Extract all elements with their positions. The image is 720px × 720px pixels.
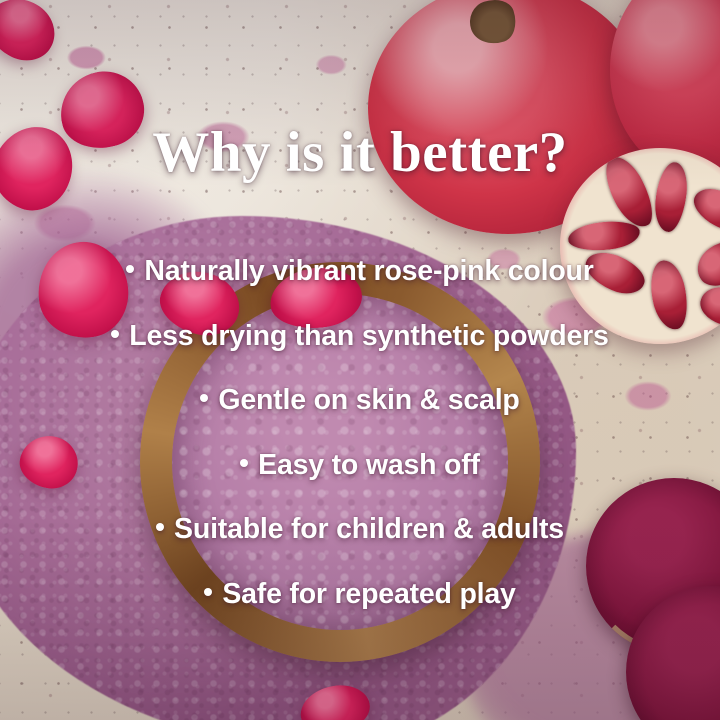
benefit-label: Less drying than synthetic powders — [129, 322, 608, 351]
benefit-label: Safe for repeated play — [222, 580, 515, 609]
bullet-dot-icon — [204, 588, 212, 596]
poster-content: Why is it better? Naturally vibrant rose… — [0, 0, 720, 720]
bullet-dot-icon — [126, 265, 134, 273]
benefit-label: Easy to wash off — [258, 451, 480, 480]
benefits-list: Naturally vibrant rose-pink colour Less … — [0, 257, 720, 608]
list-item: Less drying than synthetic powders — [111, 322, 608, 351]
bullet-dot-icon — [240, 459, 248, 467]
bullet-dot-icon — [156, 523, 164, 531]
benefit-label: Naturally vibrant rose-pink colour — [144, 257, 593, 286]
product-benefits-poster: Why is it better? Naturally vibrant rose… — [0, 0, 720, 720]
page-title: Why is it better? — [152, 124, 567, 181]
benefit-label: Suitable for children & adults — [174, 515, 564, 544]
list-item: Easy to wash off — [240, 451, 480, 480]
list-item: Safe for repeated play — [204, 580, 515, 609]
benefit-label: Gentle on skin & scalp — [218, 386, 519, 415]
list-item: Naturally vibrant rose-pink colour — [126, 257, 593, 286]
list-item: Suitable for children & adults — [156, 515, 564, 544]
bullet-dot-icon — [111, 330, 119, 338]
list-item: Gentle on skin & scalp — [200, 386, 519, 415]
bullet-dot-icon — [200, 394, 208, 402]
